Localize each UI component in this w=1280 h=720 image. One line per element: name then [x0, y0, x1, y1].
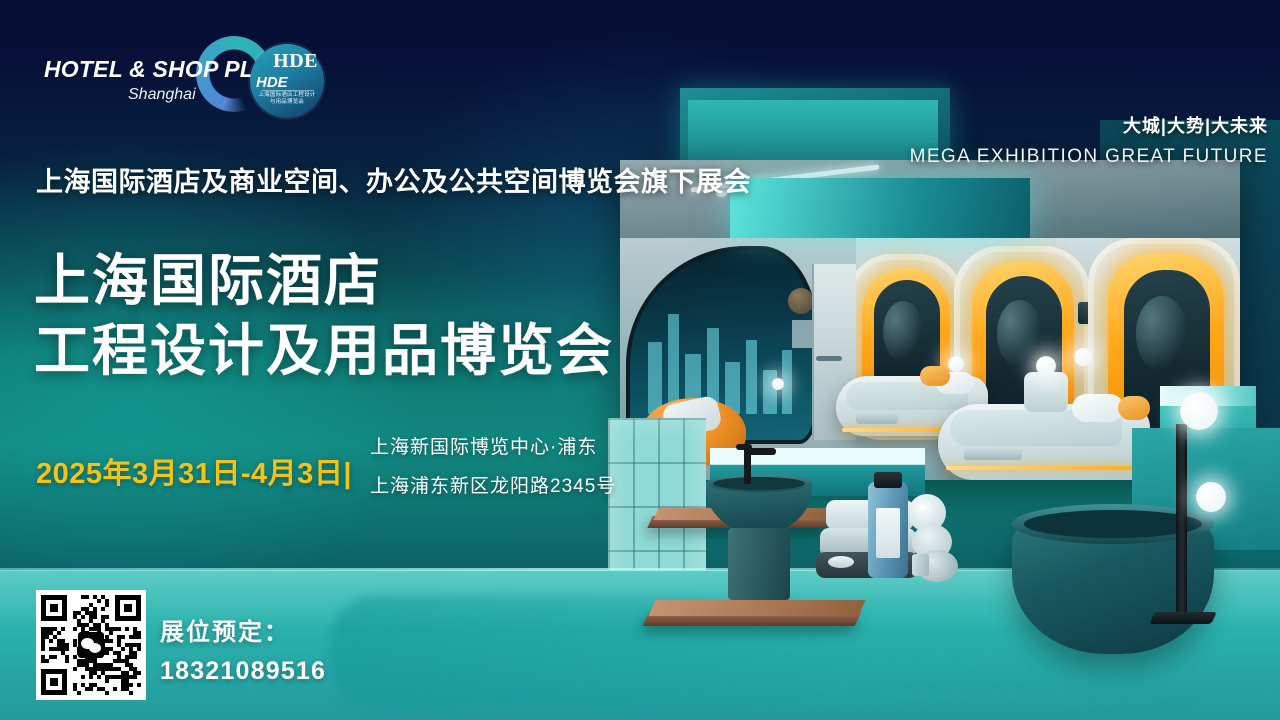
bed-control-panel — [964, 448, 1022, 460]
page-title: 上海国际酒店 工程设计及用品博览会 — [34, 246, 614, 386]
bed-accent-pillow — [920, 366, 950, 386]
qr-finder-bottom-left — [41, 669, 67, 695]
capsule-lamp-icon — [948, 356, 964, 372]
lamp-globe-icon — [1180, 392, 1218, 430]
title-line-2: 工程设计及用品博览会 — [34, 316, 614, 386]
lower-shelf-top — [648, 600, 865, 616]
wall-clock-icon — [788, 288, 814, 314]
hde-badge: HDE HDE 上海国际酒店工程设计 与用品博览会 — [250, 44, 324, 118]
bed-control-panel — [856, 412, 898, 424]
event-subtitle: 上海国际酒店及商业空间、办公及公共空间博览会旗下展会 — [36, 160, 751, 199]
qr-code-canvas — [41, 595, 141, 695]
tagline-cn: 大城|大势|大未来 — [910, 112, 1268, 138]
floor-lamp-icon — [1176, 424, 1187, 616]
bed-pillow — [1072, 394, 1124, 422]
capsule-lamp-icon — [1074, 348, 1092, 366]
venue-line-2: 上海浦东新区龙阳路2345号 — [370, 467, 616, 506]
soap-dish-icon — [828, 556, 854, 568]
event-venue: 上海新国际博览中心·浦东 上海浦东新区龙阳路2345号 — [370, 428, 616, 506]
bed-led-strip — [946, 466, 1134, 470]
hde-sans-mark: HDE — [256, 74, 288, 91]
bedside-lamp-icon — [1036, 356, 1056, 376]
hde-badge-cn-line1: 上海国际酒店工程设计 — [250, 92, 324, 99]
bedside-lamp-icon — [772, 378, 784, 390]
venue-line-1: 上海新国际博览中心·浦东 — [370, 428, 616, 467]
bed-accent-pillow — [1118, 396, 1150, 420]
promotional-banner: HOTEL & SHOP PLUS Shanghai HDE HDE 上海国际酒… — [0, 0, 1280, 720]
hde-badge-cn-line2: 与用品博览会 — [250, 99, 324, 106]
bottle-cap — [874, 472, 902, 488]
sink-bowl-inner — [713, 477, 805, 490]
backdrop-light-strip — [730, 178, 1030, 238]
booking-phone[interactable]: 18321089516 — [160, 657, 326, 686]
qr-finder-top-right — [115, 595, 141, 621]
qr-finder-top-left — [41, 595, 67, 621]
title-line-1: 上海国际酒店 — [34, 246, 614, 316]
sink-pedestal-column — [728, 528, 790, 600]
floor-lamp-base — [1149, 612, 1217, 624]
qr-code-icon[interactable] — [36, 590, 146, 700]
wall-artwork — [792, 320, 814, 348]
hde-divider — [262, 90, 314, 91]
booking-label: 展位预定： — [160, 612, 290, 647]
event-date: 2025年3月31日-4月3日| — [36, 450, 352, 492]
door-handle-icon — [816, 356, 842, 361]
bottle-label — [876, 508, 900, 558]
event-tagline: 大城|大势|大未来 MEGA EXHIBITION GREAT FUTURE — [910, 112, 1268, 168]
logo-city-label: Shanghai — [128, 86, 196, 104]
faucet-handle — [736, 444, 752, 450]
amenity-jar-icon — [912, 554, 929, 576]
hde-serif-mark: HDE — [250, 50, 318, 73]
lamp-globe-icon — [1196, 482, 1226, 512]
tagline-en: MEGA EXHIBITION GREAT FUTURE — [910, 146, 1268, 168]
nightstand — [1024, 372, 1068, 412]
